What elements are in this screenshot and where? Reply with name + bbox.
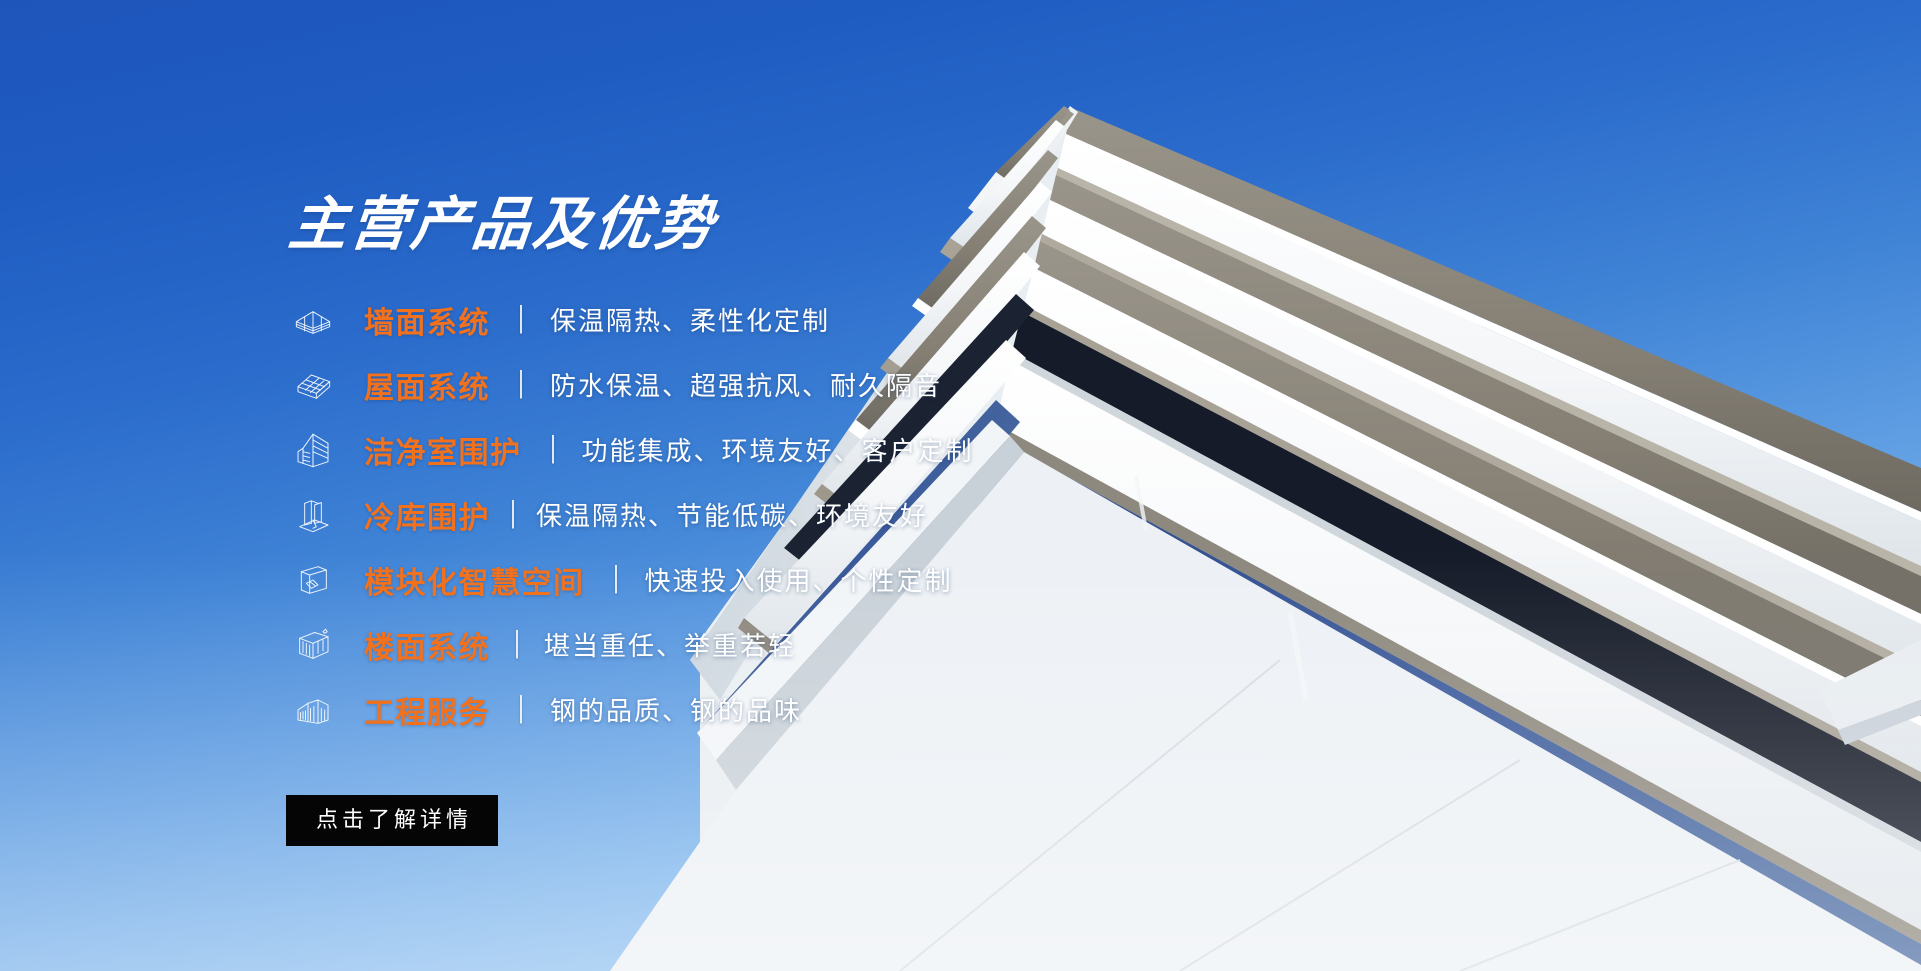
feature-title: 模块化智慧空间 <box>364 558 585 602</box>
hero-banner: 主营产品及优势 墙面系统 丨 保温隔热、柔性化定制 <box>0 0 1921 971</box>
feature-description: 保温隔热、节能低碳、环境友好 <box>536 496 928 533</box>
feature-title: 冷库围护 <box>364 493 490 537</box>
feature-title: 墙面系统 <box>364 298 490 342</box>
floor-system-icon <box>286 623 340 667</box>
feature-item-roof-system[interactable]: 屋面系统 丨 防水保温、超强抗风、耐久隔音 <box>286 357 1106 412</box>
feature-description: 功能集成、环境友好、客户定制 <box>582 431 974 468</box>
engineering-service-icon <box>286 688 340 732</box>
feature-description: 堪当重任、举重若轻 <box>544 626 796 663</box>
hero-content: 主营产品及优势 墙面系统 丨 保温隔热、柔性化定制 <box>286 196 1106 846</box>
feature-item-wall-system[interactable]: 墙面系统 丨 保温隔热、柔性化定制 <box>286 292 1106 347</box>
feature-list: 墙面系统 丨 保温隔热、柔性化定制 屋面系统 <box>286 292 1106 737</box>
feature-item-cleanroom-enclosure[interactable]: 洁净室围护 丨 功能集成、环境友好、客户定制 <box>286 422 1106 477</box>
feature-item-cold-storage-enclosure[interactable]: 冷库围护 丨 保温隔热、节能低碳、环境友好 <box>286 487 1106 542</box>
feature-item-modular-smart-space[interactable]: 模块化智慧空间 丨 快速投入使用、个性定制 <box>286 552 1106 607</box>
feature-separator: 丨 <box>608 565 622 595</box>
roof-system-icon <box>286 363 340 407</box>
feature-separator: 丨 <box>545 435 559 465</box>
feature-separator: 丨 <box>514 695 528 725</box>
feature-separator: 丨 <box>506 500 520 530</box>
feature-separator: 丨 <box>510 630 524 660</box>
cleanroom-enclosure-icon <box>286 428 340 472</box>
feature-title: 屋面系统 <box>364 363 490 407</box>
feature-separator: 丨 <box>514 305 528 335</box>
feature-title: 楼面系统 <box>364 623 490 667</box>
feature-description: 快速投入使用、个性定制 <box>645 561 953 598</box>
modular-smart-space-icon <box>286 558 340 602</box>
feature-item-engineering-service[interactable]: 工程服务 丨 钢的品质、钢的品味 <box>286 682 1106 737</box>
cold-storage-enclosure-icon <box>286 493 340 537</box>
feature-description: 钢的品质、钢的品味 <box>550 691 802 728</box>
feature-description: 防水保温、超强抗风、耐久隔音 <box>550 366 942 403</box>
wall-system-icon <box>286 298 340 342</box>
feature-description: 保温隔热、柔性化定制 <box>550 301 830 338</box>
feature-item-floor-system[interactable]: 楼面系统 丨 堪当重任、举重若轻 <box>286 617 1106 672</box>
feature-separator: 丨 <box>514 370 528 400</box>
page-title: 主营产品及优势 <box>286 196 1112 254</box>
feature-title: 洁净室围护 <box>364 428 522 472</box>
learn-more-button[interactable]: 点击了解详情 <box>286 795 498 846</box>
feature-title: 工程服务 <box>364 688 490 732</box>
